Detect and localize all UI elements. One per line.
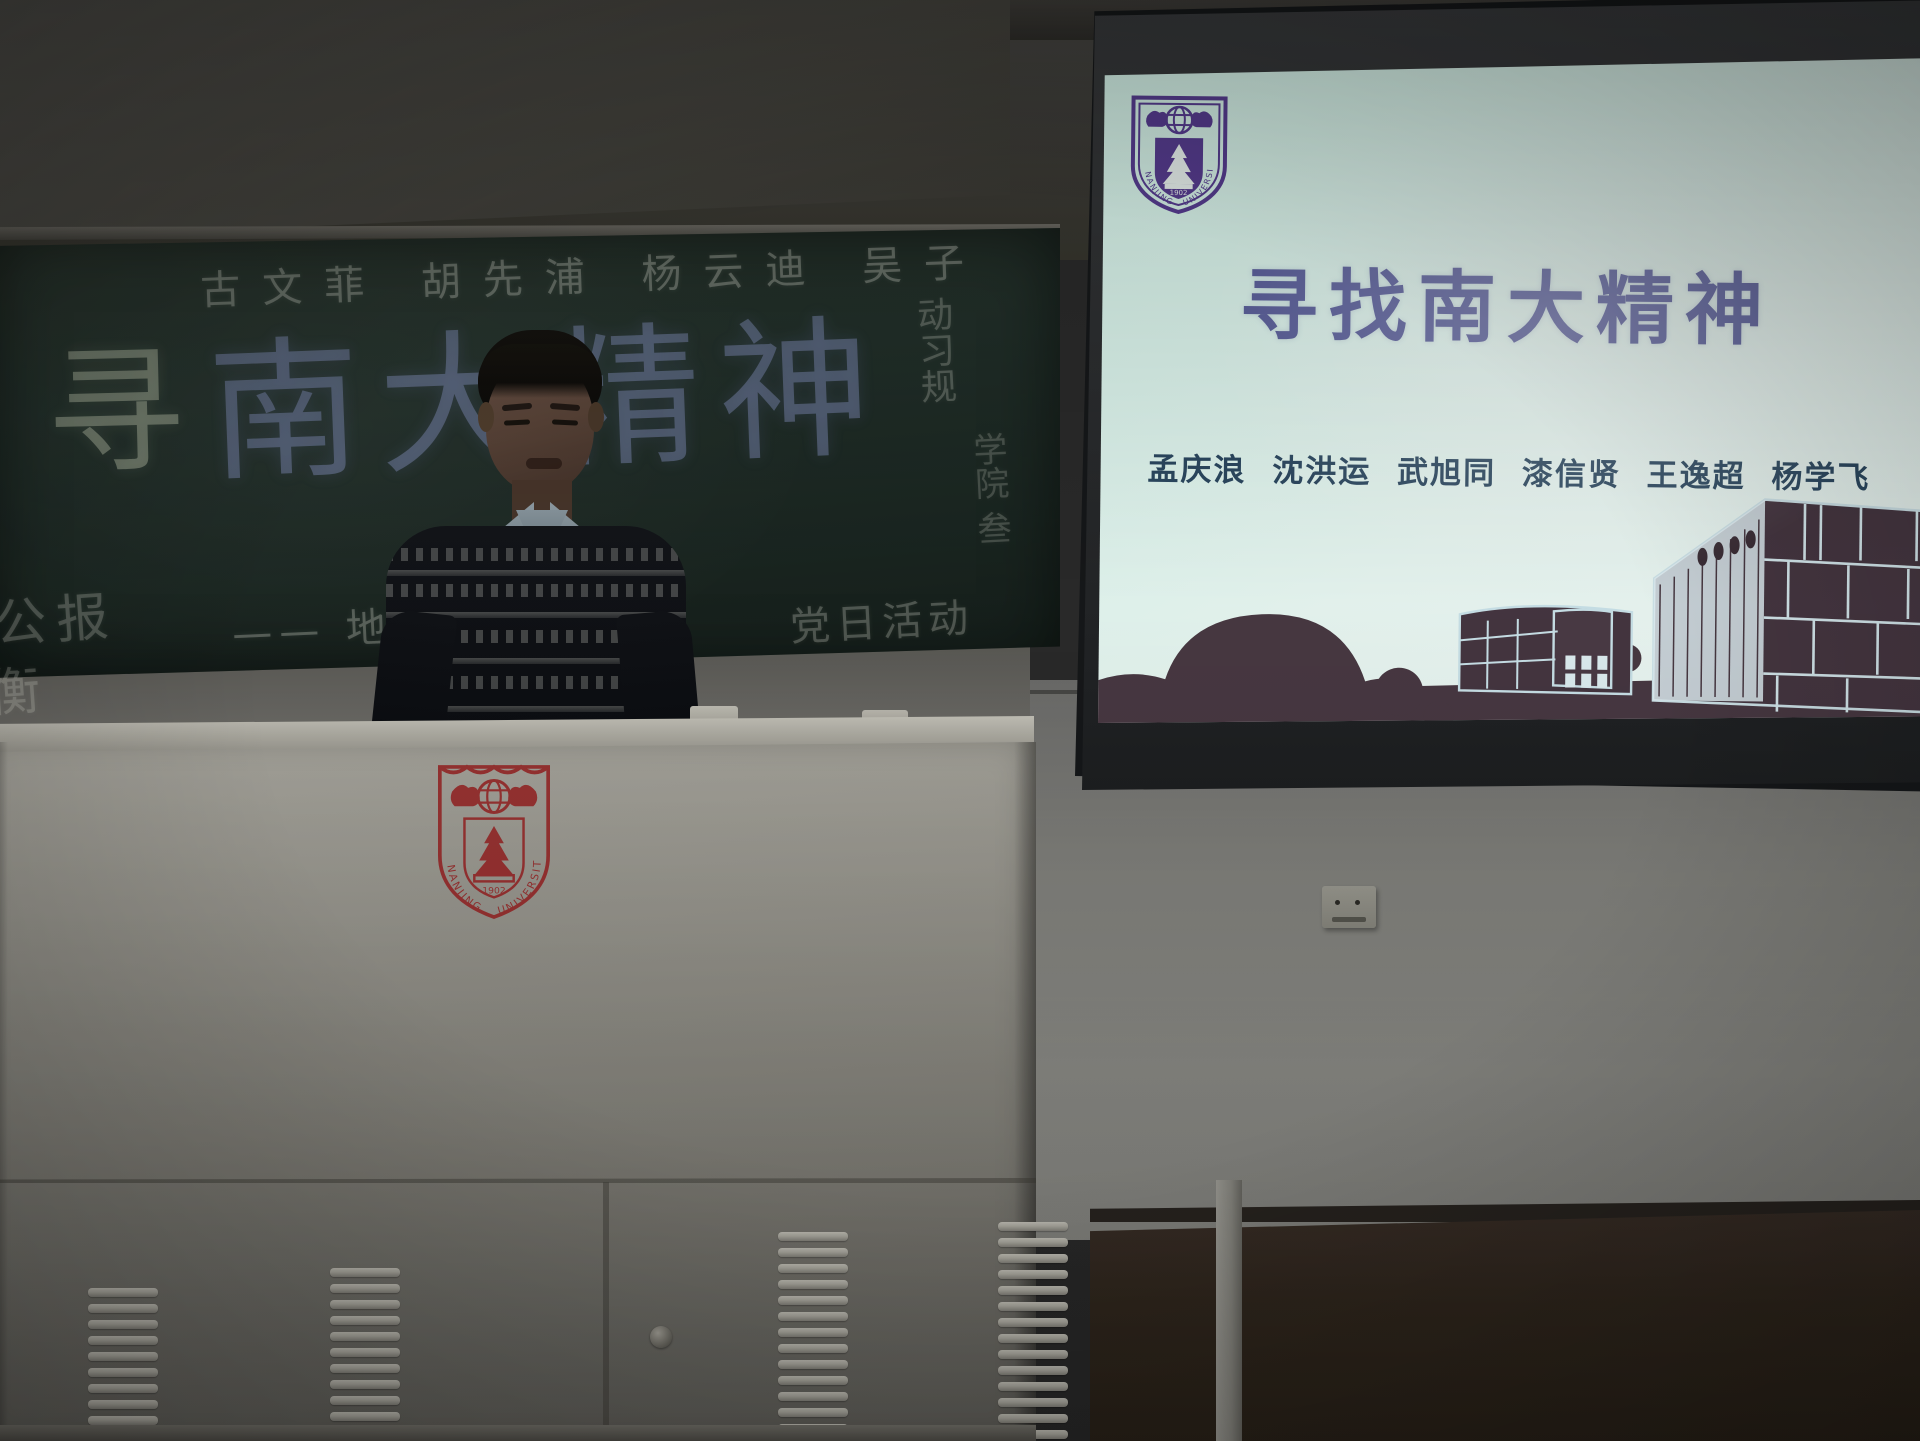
presenter-hair-front xyxy=(478,344,602,398)
nju-crest-icon: 1902 NANJING UNIVERSITY xyxy=(1127,93,1230,214)
podium-vent xyxy=(330,1268,400,1441)
door-jamb xyxy=(1216,1180,1242,1441)
svg-text:1902: 1902 xyxy=(1170,189,1188,197)
wall-outlet-icon[interactable] xyxy=(1322,886,1376,928)
presenter-ear-left xyxy=(478,402,494,432)
presenter-ear-right xyxy=(588,402,604,432)
blackboard-subtitle-right: 党日活动 xyxy=(789,585,976,653)
blackboard-left-fragment-2: 衡 xyxy=(0,648,43,726)
podium-vent xyxy=(778,1232,848,1441)
slide-title: 寻找南大精神 xyxy=(1098,242,1917,362)
podium-vent xyxy=(998,1222,1068,1439)
lecture-hall-photo: 古文菲 胡先浦 杨云迪 吴子 寻 南大精神 —— 地理学 党日活动 公报 衡 动… xyxy=(0,0,1920,1441)
blackboard-right-column-2: 学院 叁 xyxy=(957,431,1021,547)
podium-door-split xyxy=(603,1182,609,1441)
presenter-mouth xyxy=(526,458,562,469)
blackboard-left-fragment-1: 公报 xyxy=(0,574,120,657)
podium-base-ledge xyxy=(0,1425,1036,1441)
podium-door-lock[interactable] xyxy=(650,1326,672,1348)
floor xyxy=(1090,1210,1920,1441)
podium-edge-left xyxy=(0,742,8,1441)
campus-silhouette-illustration xyxy=(1098,474,1920,723)
presentation-slide: 1902 NANJING UNIVERSITY 寻找南大精神 孟庆浪 沈洪运 武… xyxy=(1098,58,1920,723)
podium-nju-crest-icon: 1902 NANJING UNIVERSITY xyxy=(432,762,556,922)
outlet-slot xyxy=(1332,917,1366,922)
blackboard-title-white: 寻 xyxy=(44,298,203,502)
svg-text:1902: 1902 xyxy=(482,886,505,897)
presenter xyxy=(370,330,700,750)
podium-vent xyxy=(88,1288,158,1441)
blackboard-right-column-1: 动习规 xyxy=(897,294,969,405)
